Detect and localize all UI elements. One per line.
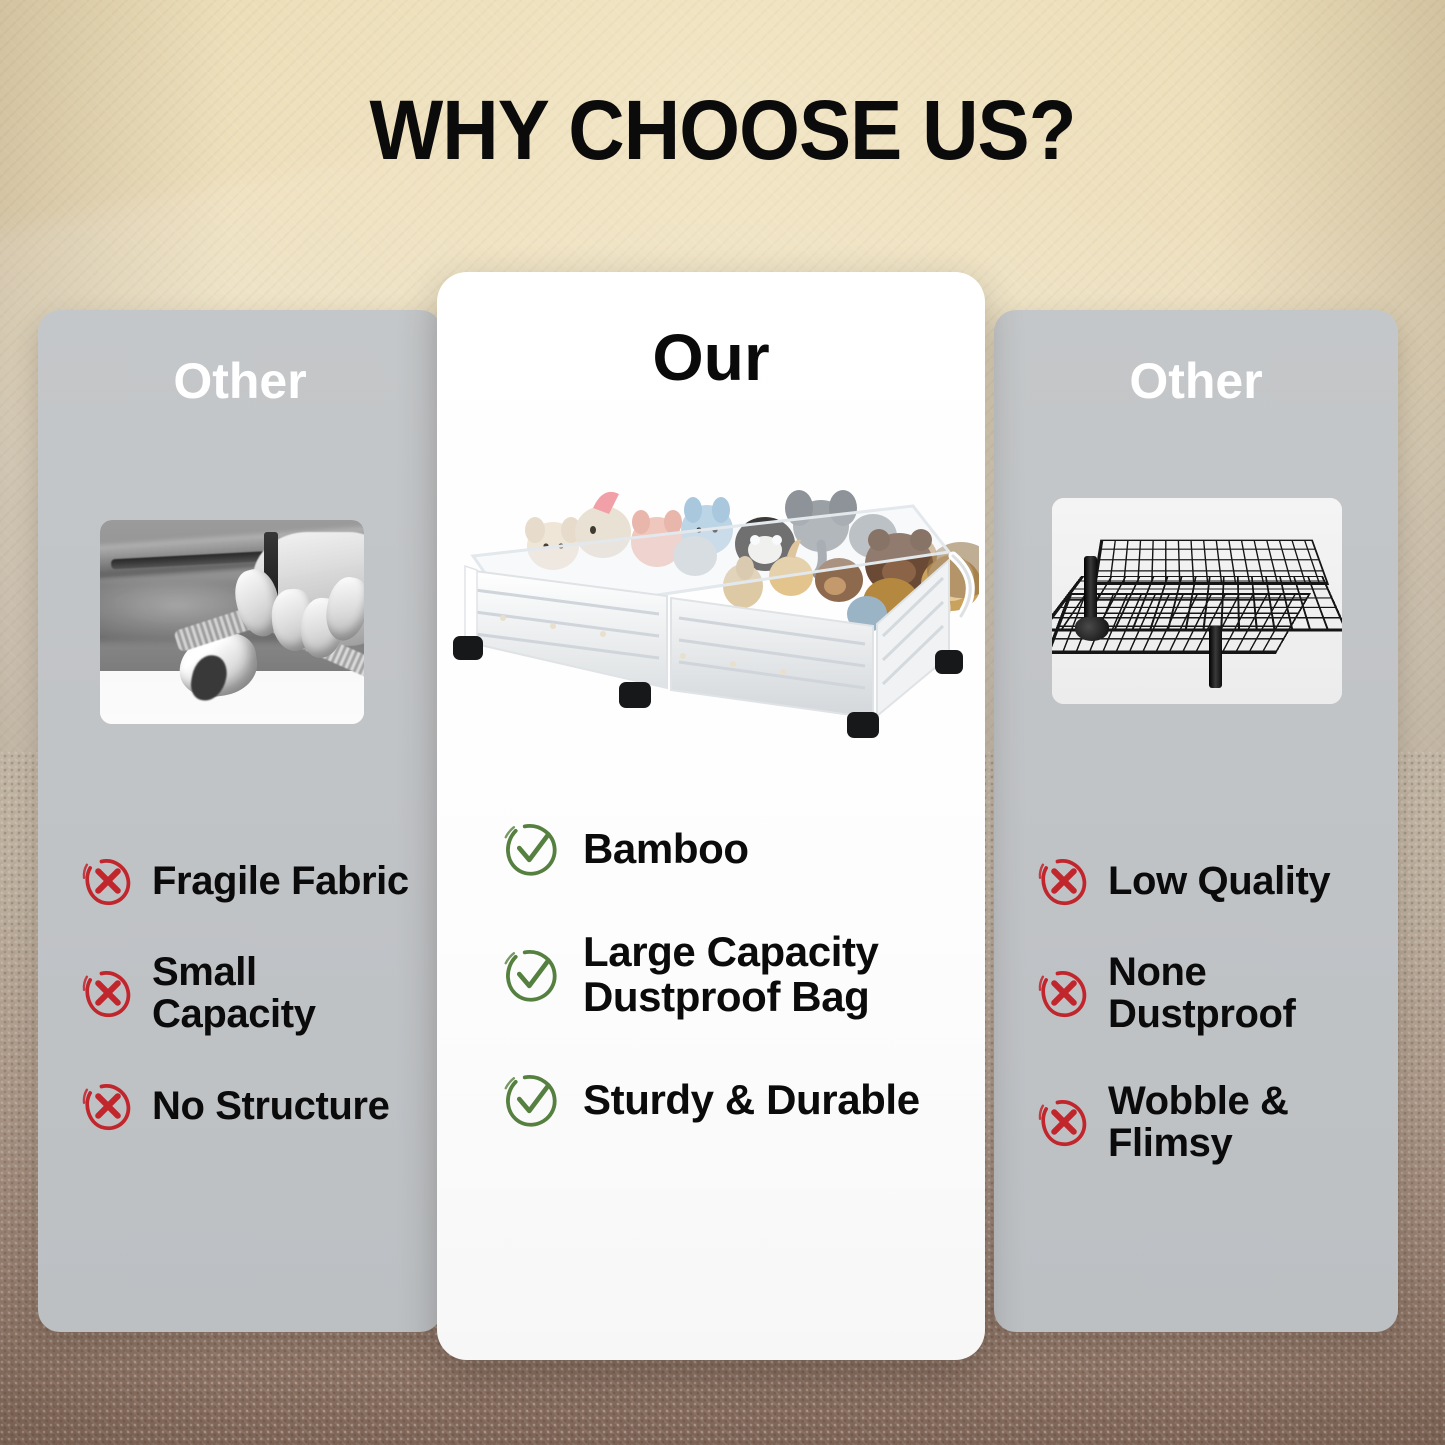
list-item-label: None Dustproof	[1108, 951, 1380, 1036]
list-item: Large Capacity Dustproof Bag	[503, 930, 955, 1019]
comparison-card-right: Other Low Quality	[994, 310, 1398, 1332]
list-item: Wobble & Flimsy	[1038, 1080, 1380, 1165]
white-underbed-rolling-storage-cart-with-plush-toys-photo	[443, 460, 979, 760]
check-circle-icon	[503, 946, 561, 1004]
list-item-label: Bamboo	[583, 827, 749, 872]
list-item-label: Small Capacity	[152, 951, 424, 1036]
list-item: Bamboo	[503, 820, 955, 878]
cross-circle-icon	[82, 967, 134, 1019]
check-circle-icon	[503, 820, 561, 878]
card-left-feature-list: Fragile Fabric Small Capacity	[82, 855, 424, 1132]
comparison-card-center: Our	[437, 272, 985, 1360]
broken-zipper-fabric-photo	[100, 520, 364, 724]
card-center-feature-list: Bamboo Large Capacity Dustproof Bag	[503, 820, 955, 1181]
list-item: Small Capacity	[82, 951, 424, 1036]
black-wire-mesh-basket-photo	[1052, 498, 1342, 704]
cross-circle-icon	[82, 1080, 134, 1132]
list-item-label: Fragile Fabric	[152, 860, 409, 902]
cross-circle-icon	[1038, 967, 1090, 1019]
comparison-card-left: Other	[38, 310, 442, 1332]
cross-circle-icon	[1038, 1096, 1090, 1148]
list-item: None Dustproof	[1038, 951, 1380, 1036]
card-left-heading: Other	[38, 356, 442, 406]
basket-post	[1209, 626, 1222, 688]
check-circle-icon	[503, 1071, 561, 1129]
cross-circle-icon	[82, 855, 134, 907]
infographic-canvas: WHY CHOOSE US? Other	[0, 0, 1445, 1445]
card-center-heading: Our	[437, 324, 985, 390]
list-item-label: Large Capacity Dustproof Bag	[583, 930, 879, 1019]
list-item: Fragile Fabric	[82, 855, 424, 907]
cross-circle-icon	[1038, 855, 1090, 907]
list-item-label: Sturdy & Durable	[583, 1078, 920, 1123]
card-right-feature-list: Low Quality None Dustproof	[1038, 855, 1380, 1165]
card-right-heading: Other	[994, 356, 1398, 406]
basket-post	[1084, 556, 1097, 626]
list-item: Sturdy & Durable	[503, 1071, 955, 1129]
list-item-label: No Structure	[152, 1085, 389, 1127]
list-item: No Structure	[82, 1080, 424, 1132]
list-item-label: Low Quality	[1108, 860, 1330, 902]
page-title: WHY CHOOSE US?	[51, 88, 1395, 172]
list-item: Low Quality	[1038, 855, 1380, 907]
list-item-label: Wobble & Flimsy	[1108, 1080, 1380, 1165]
